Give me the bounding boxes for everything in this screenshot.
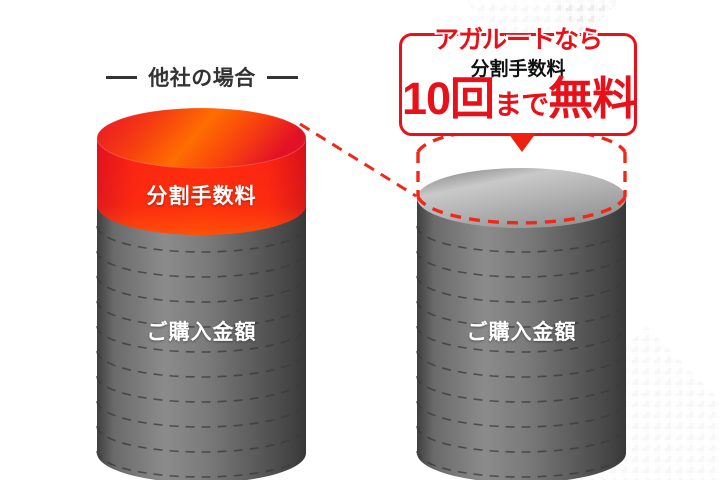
rule-left-icon: [106, 76, 137, 79]
infographic-stage: 他社の場合: [0, 0, 720, 480]
left-cylinder-graphic: [97, 108, 306, 480]
left-section-title-text: 他社の場合: [148, 62, 256, 92]
callout-particle: まで: [494, 89, 548, 120]
right-cylinder: ご購入金額: [417, 168, 626, 480]
rule-right-icon: [267, 76, 298, 79]
callout-brand-text: アガルートなら: [399, 20, 637, 56]
right-cylinder-graphic: [417, 168, 626, 480]
right-cylinder-top-ellipse: [417, 168, 626, 228]
callout-triangle-down-icon: [508, 133, 536, 152]
left-cylinder: 分割手数料 ご購入金額: [97, 108, 306, 480]
left-cylinder-gray-body: [97, 205, 306, 480]
callout-count: 10回: [402, 73, 494, 124]
callout-free: 無料: [548, 73, 636, 124]
right-cylinder-body: [417, 198, 626, 480]
callout-main-text: 10回まで無料: [402, 76, 634, 121]
left-section-title: 他社の場合: [86, 62, 318, 92]
